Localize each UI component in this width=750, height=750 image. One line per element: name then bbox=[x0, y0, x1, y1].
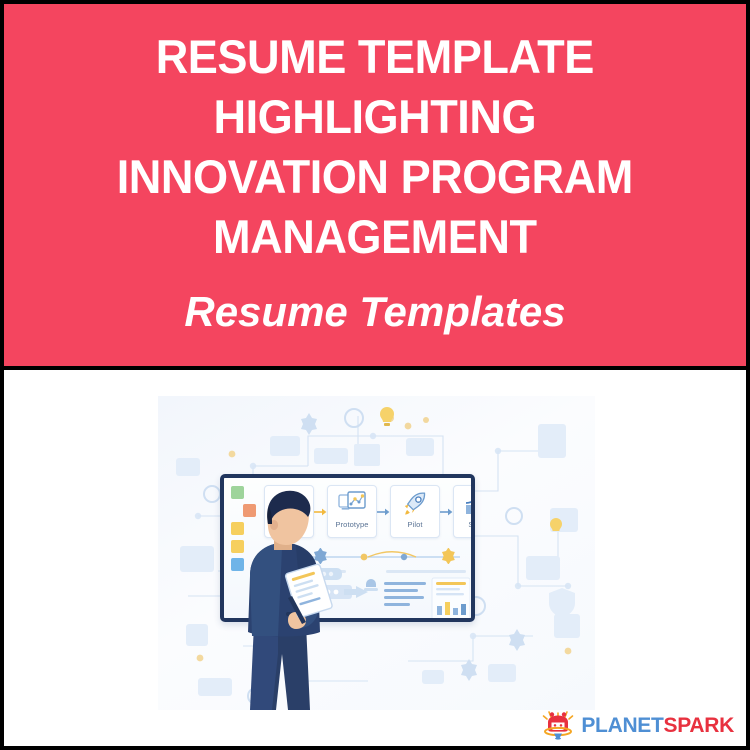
page-subtitle: Resume Templates bbox=[184, 289, 565, 335]
poster-canvas: RESUME TEMPLATE HIGHLIGHTING INNOVATION … bbox=[0, 0, 750, 750]
growth-chart-icon bbox=[464, 490, 475, 518]
rocket-icon bbox=[402, 490, 428, 518]
stage-card-pilot[interactable]: Pilot bbox=[390, 485, 440, 538]
stage-label: Scale bbox=[468, 520, 475, 529]
logo-text-planet: PLANET bbox=[581, 715, 663, 736]
logo-text-spark: SPARK bbox=[664, 715, 734, 736]
illustration-image: Idea bbox=[158, 396, 595, 710]
title-line-3: INNOVATION PROGRAM bbox=[117, 147, 633, 207]
stage-label: Pilot bbox=[407, 520, 422, 529]
planetspark-logo[interactable]: PLANETSPARK bbox=[541, 710, 734, 740]
header-banner: RESUME TEMPLATE HIGHLIGHTING INNOVATION … bbox=[4, 4, 746, 370]
body-area: Idea bbox=[4, 370, 746, 746]
planetspark-robot-icon bbox=[541, 710, 575, 740]
page-title: RESUME TEMPLATE HIGHLIGHTING INNOVATION … bbox=[117, 27, 633, 268]
design-screen-icon bbox=[338, 490, 366, 518]
businessman-figure bbox=[230, 484, 336, 710]
flow-arrow-icon bbox=[440, 485, 453, 538]
flow-arrow-icon bbox=[377, 485, 390, 538]
stage-label: Prototype bbox=[335, 520, 368, 529]
stage-card-scale[interactable]: Scale bbox=[453, 485, 475, 538]
planetspark-wordmark: PLANETSPARK bbox=[581, 715, 734, 736]
title-line-1: RESUME TEMPLATE bbox=[117, 27, 633, 87]
title-line-4: MANAGEMENT bbox=[117, 207, 633, 267]
title-line-2: HIGHLIGHTING bbox=[117, 87, 633, 147]
